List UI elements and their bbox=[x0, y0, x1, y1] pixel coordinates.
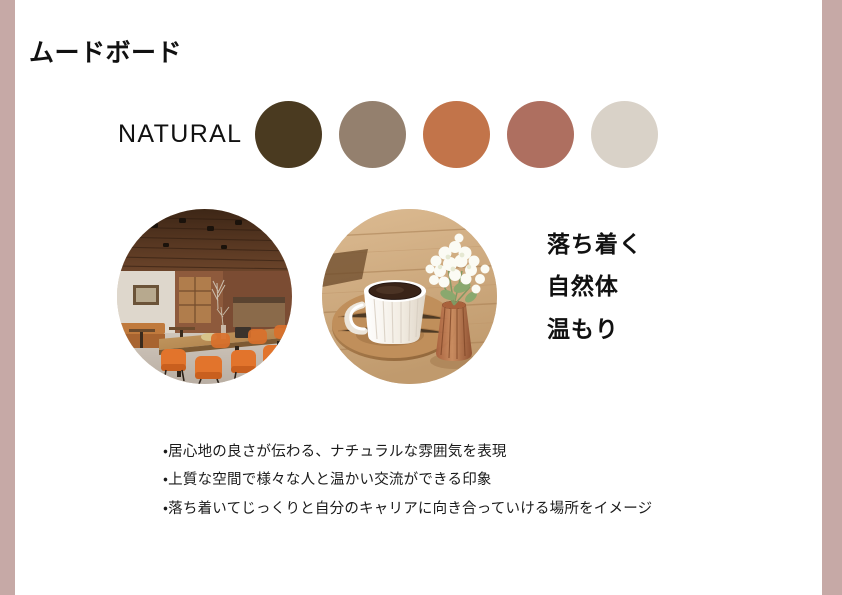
swatch-list bbox=[255, 101, 658, 168]
photo-coffee-cup-and-flowers bbox=[322, 209, 497, 384]
keyword-list: 落ち着く 自然体 温もり bbox=[547, 232, 643, 342]
mood-board-slide: ムードボード NATURAL bbox=[0, 0, 842, 595]
coffee-and-flowers-illustration bbox=[322, 209, 497, 384]
color-swatch-warm-taupe bbox=[339, 101, 406, 168]
keyword-item: 落ち着く bbox=[547, 232, 643, 257]
note-item: ・上質な空間で様々な人と温かい交流ができる印象 bbox=[163, 469, 652, 492]
photo-cafe-lounge-interior bbox=[117, 209, 292, 384]
accent-band-right bbox=[822, 0, 842, 595]
note-item: ・居心地の良さが伝わる、ナチュラルな雰囲気を表現 bbox=[163, 441, 652, 464]
page-title: ムードボード bbox=[29, 33, 182, 69]
photo-row bbox=[117, 209, 497, 384]
palette-label: NATURAL bbox=[118, 120, 255, 149]
accent-band-left bbox=[0, 0, 15, 595]
color-swatch-dark-olive-brown bbox=[255, 101, 322, 168]
keyword-item: 温もり bbox=[547, 317, 643, 342]
color-swatch-terracotta bbox=[423, 101, 490, 168]
color-swatch-soft-cream bbox=[591, 101, 658, 168]
keyword-item: 自然体 bbox=[547, 274, 643, 299]
cafe-lounge-illustration bbox=[117, 209, 292, 384]
color-swatch-dusty-clay-rose bbox=[507, 101, 574, 168]
notes-list: ・居心地の良さが伝わる、ナチュラルな雰囲気を表現 ・上質な空間で様々な人と温かい… bbox=[163, 441, 652, 521]
note-item: ・落ち着いてじっくりと自分のキャリアに向き合っていける場所をイメージ bbox=[163, 498, 652, 521]
color-palette: NATURAL bbox=[118, 100, 658, 168]
